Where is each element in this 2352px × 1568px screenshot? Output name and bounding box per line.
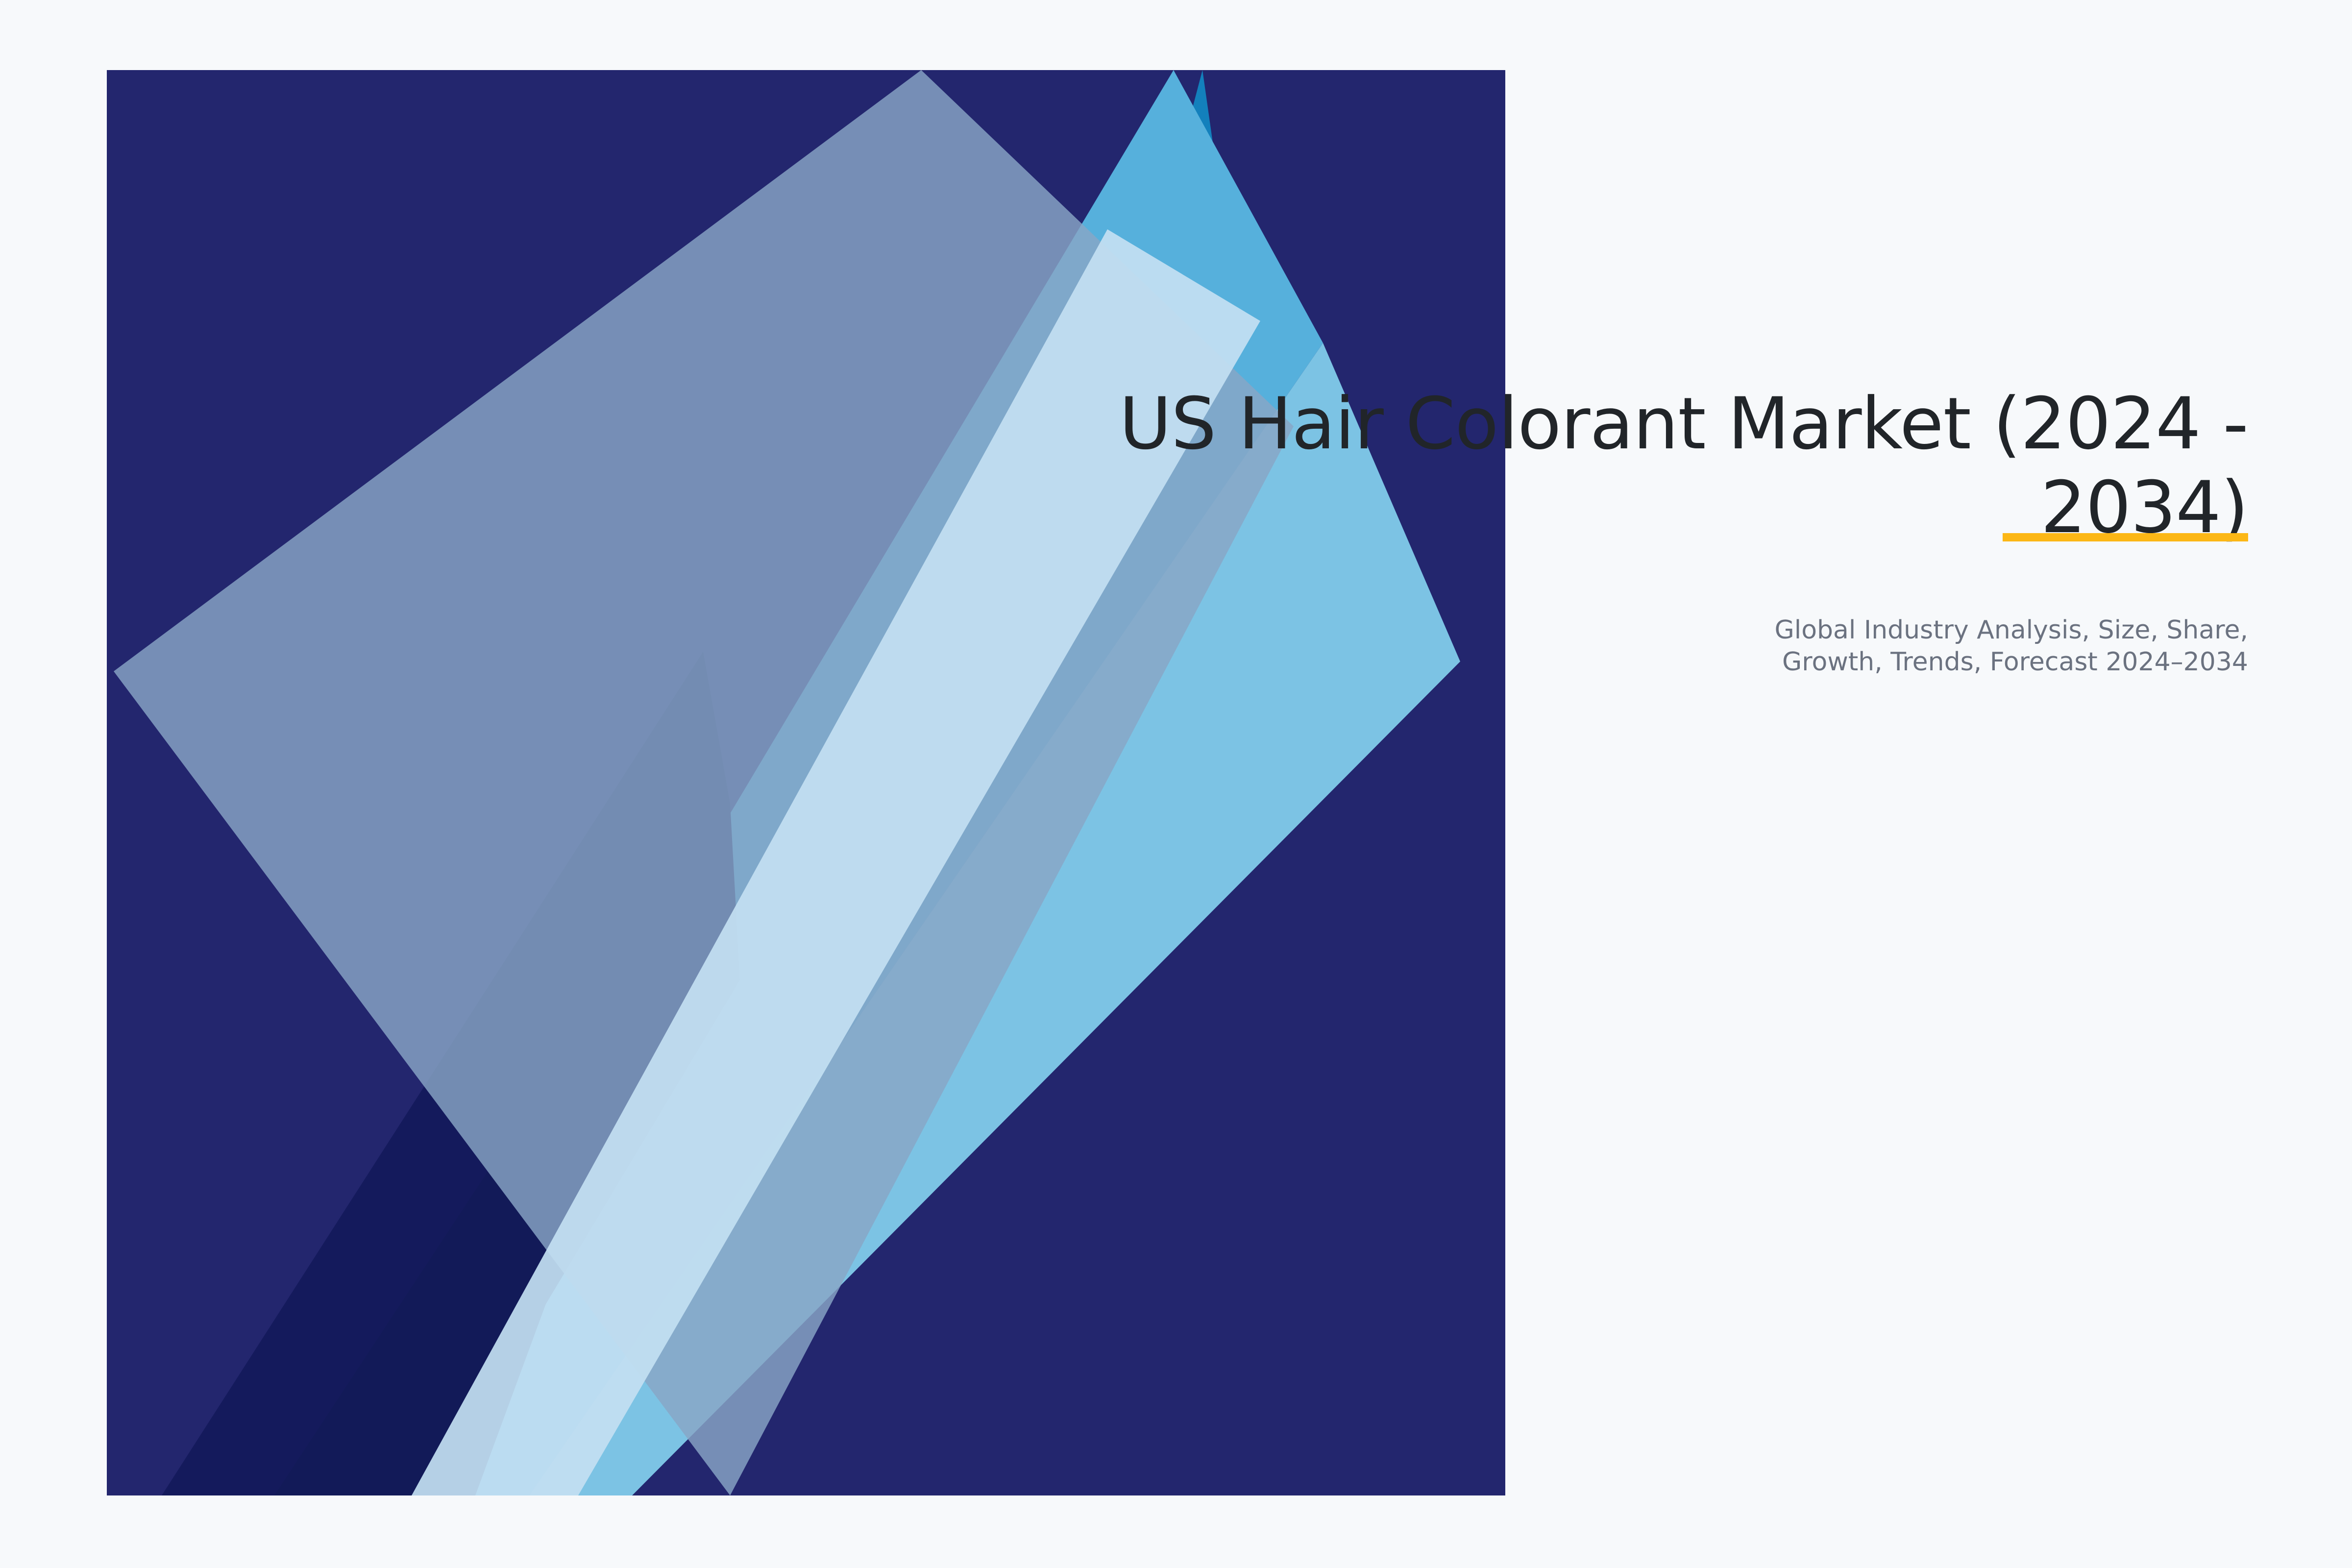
slide-canvas: US Hair Colorant Market (2024 - 2034) Gl… [0,0,2352,1568]
title-accent-bar [2003,533,2248,541]
page-title: US Hair Colorant Market (2024 - 2034) [1072,382,2248,550]
page-subtitle: Global Industry Analysis, Size, Share, G… [1072,550,2248,679]
title-block: US Hair Colorant Market (2024 - 2034) Gl… [1072,382,2248,679]
geometric-artwork [0,0,2352,1568]
